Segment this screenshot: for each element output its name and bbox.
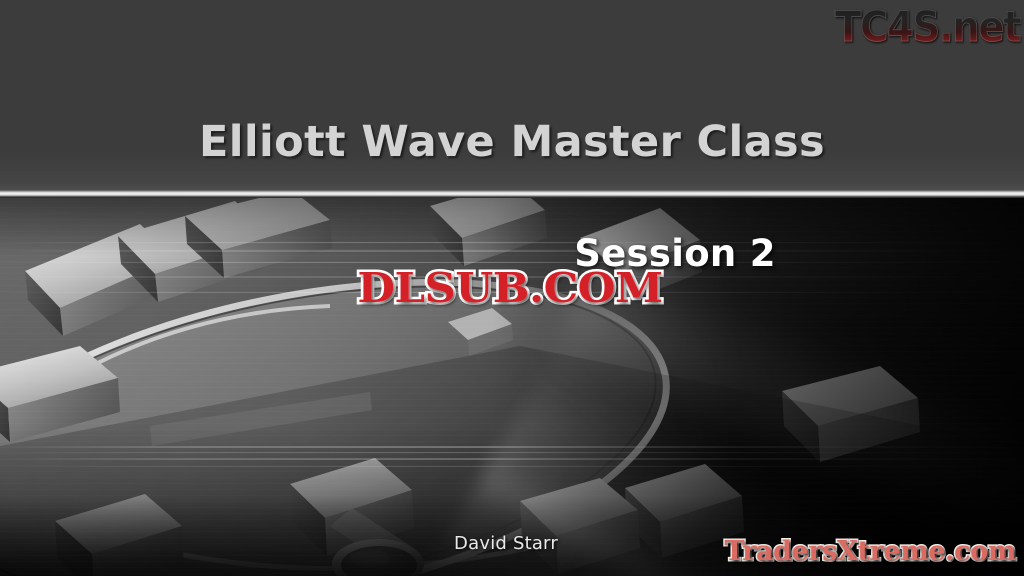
author-name-text: David Starr	[454, 533, 558, 554]
session-label-text: Session 2	[574, 232, 776, 275]
presentation-slide: Elliott Wave Master Class	[0, 0, 1024, 576]
watermark-tc4s-logo: TC4S.net	[827, 2, 1024, 51]
watermark-tradersxtreme-text: TradersXtreme.com	[724, 536, 1016, 567]
header-divider	[0, 190, 1024, 198]
session-label: Session 2	[0, 232, 1024, 275]
watermark-tradersxtreme-logo: TradersXtreme.com	[724, 536, 1016, 567]
watermark-tc4s-text: TC4S.net	[835, 2, 1020, 51]
page-title: Elliott Wave Master Class	[0, 117, 1024, 167]
